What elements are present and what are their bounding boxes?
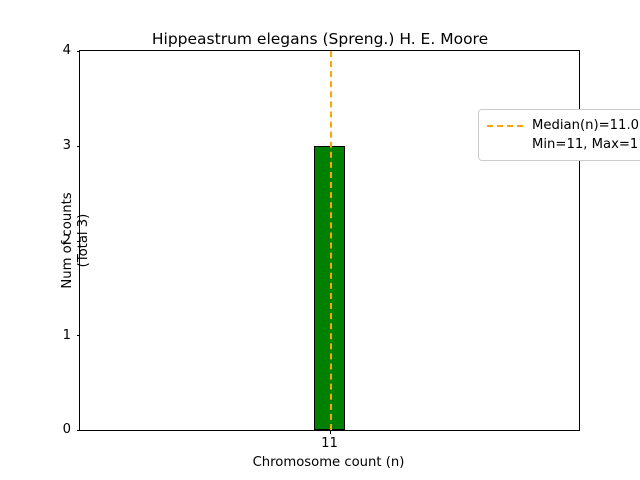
chart-title: Hippeastrum elegans (Spreng.) H. E. Moor… (0, 30, 640, 49)
y-tick-mark (77, 430, 81, 431)
legend-dashed-line-icon (487, 125, 523, 127)
y-tick-label: 4 (11, 44, 71, 57)
y-tick-label: 1 (11, 329, 71, 342)
legend-entry-label: Min=11, Max=11 (532, 135, 640, 154)
plot-area: Num of counts (Total 3) 01234 11 Median(… (79, 50, 580, 431)
legend-entry: Min=11, Max=11 (487, 135, 640, 154)
chart-figure: Hippeastrum elegans (Spreng.) H. E. Moor… (0, 0, 640, 480)
x-axis-label: Chromosome count (n) (79, 455, 578, 470)
x-tick-mark (330, 430, 331, 434)
plot-inner (80, 51, 579, 430)
legend-entry: Median(n)=11.0 (487, 116, 640, 135)
y-tick-label: 3 (11, 139, 71, 152)
y-tick-label: 0 (11, 423, 71, 436)
x-tick-label: 11 (300, 437, 360, 450)
legend-entry-label: Median(n)=11.0 (532, 116, 639, 135)
y-tick-label: 2 (11, 234, 71, 247)
median-line (330, 51, 332, 430)
chart-legend: Median(n)=11.0 Min=11, Max=11 (478, 109, 640, 161)
